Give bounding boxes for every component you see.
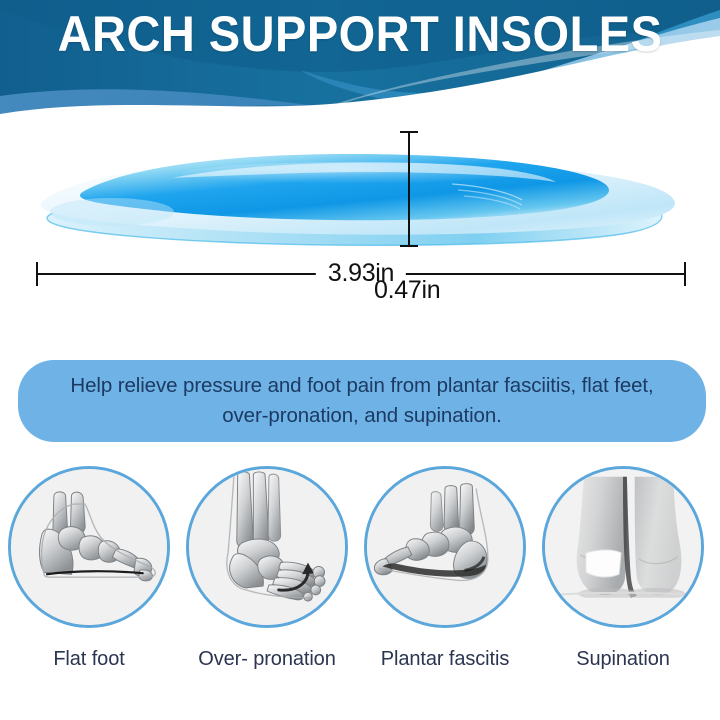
- insole-product-image: [22, 128, 692, 258]
- flat-foot-skeleton-icon: [11, 469, 167, 625]
- over-pronation-skeleton-icon: [189, 469, 345, 625]
- page-title: ARCH SUPPORT INSOLES: [22, 0, 699, 68]
- condition-label-over-pronation: Over- pronation: [182, 648, 352, 671]
- height-dimension-label: 0.47in: [374, 276, 440, 305]
- condition-item-plantar-fascitis[interactable]: Plantar fascitis: [360, 466, 530, 671]
- condition-circle-supination: [542, 466, 704, 628]
- benefit-callout-box: Help relieve pressure and foot pain from…: [18, 360, 706, 442]
- dimension-cap-bottom: [400, 245, 418, 247]
- condition-label-supination: Supination: [538, 648, 708, 671]
- condition-label-flat-foot: Flat foot: [4, 648, 174, 671]
- dimension-cap-right: [684, 262, 686, 286]
- condition-circle-plantar-fascitis: [364, 466, 526, 628]
- condition-icons-row: Flat foot: [0, 466, 720, 696]
- width-dimension-line: 3.93in: [36, 262, 686, 286]
- plantar-fascitis-skeleton-icon: [367, 469, 523, 625]
- benefit-callout-text: Help relieve pressure and foot pain from…: [52, 371, 672, 431]
- header-banner: ARCH SUPPORT INSOLES: [0, 0, 720, 122]
- condition-circle-flat-foot: [8, 466, 170, 628]
- dimension-stem: [408, 133, 410, 245]
- condition-label-plantar-fascitis: Plantar fascitis: [360, 648, 530, 671]
- condition-circle-over-pronation: [186, 466, 348, 628]
- condition-item-flat-foot[interactable]: Flat foot: [4, 466, 174, 671]
- condition-item-over-pronation[interactable]: Over- pronation: [182, 466, 352, 671]
- condition-item-supination[interactable]: Supination: [538, 466, 708, 671]
- product-infographic: ARCH SUPPORT INSOLES: [0, 0, 720, 720]
- supination-heels-icon: [545, 469, 701, 625]
- gel-insole-illustration: [22, 128, 692, 258]
- height-dimension-line: [396, 131, 422, 247]
